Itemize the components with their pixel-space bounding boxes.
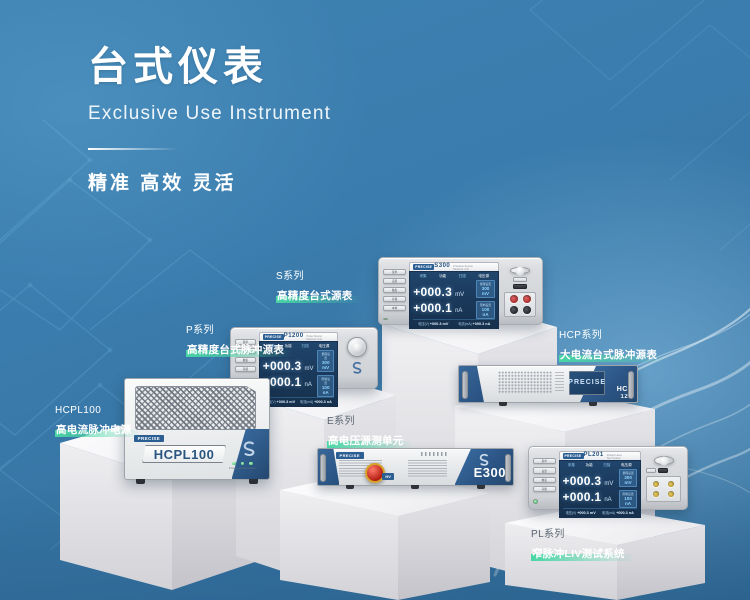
page-subtitle: Exclusive Use Instrument: [88, 103, 331, 125]
limit-setting[interactable]: 限制设置 100 nA: [476, 301, 496, 319]
pl-series-side-buttons[interactable]: 菜单 设置 触发 存储: [533, 451, 556, 504]
led-output: [249, 462, 253, 466]
tab-function[interactable]: 功能: [585, 463, 592, 468]
hcp-display[interactable]: PRECISE: [569, 371, 605, 395]
label-title: E系列: [327, 415, 405, 429]
limit-setting[interactable]: 限制设置 100 nA: [317, 375, 334, 397]
tab-voltage-source[interactable]: 电压源: [478, 274, 489, 279]
button-output[interactable]: [513, 277, 527, 282]
terminal-force-lo[interactable]: [510, 306, 518, 314]
rack-handle-right[interactable]: [505, 454, 511, 482]
range-label: 量程设置: [320, 352, 331, 360]
limit-value: 100 nA: [622, 496, 634, 506]
label-title: PL系列: [531, 528, 626, 542]
mesh-grille: [135, 386, 256, 430]
button-store[interactable]: 存储: [533, 486, 556, 492]
hero-header: 台式仪表 Exclusive Use Instrument 精准 高效 灵活: [88, 44, 331, 195]
label-desc: 高电流脉冲电源: [55, 423, 133, 437]
vent-slots-right: [408, 460, 447, 477]
vent-slots: [555, 372, 564, 392]
rack-feet: [317, 485, 514, 489]
hero-banner: 台式仪表 Exclusive Use Instrument 精准 高效 灵活: [0, 0, 750, 600]
lcd-status-bar: 电压(V) +000.3 mV 电流(mA) +000.3 nA: [563, 508, 638, 515]
button-menu[interactable]: 菜单: [383, 269, 406, 275]
led-power: [232, 462, 236, 466]
circuit-pattern-right: [490, 0, 750, 300]
hv-badge: HV: [382, 473, 394, 480]
label-title: HCP系列: [559, 329, 658, 343]
terminal-laser-out[interactable]: [653, 481, 659, 487]
limit-setting[interactable]: 限制设置 100 nA: [619, 490, 637, 508]
tab-function[interactable]: 功能: [285, 344, 292, 349]
unit-voltage: mV: [604, 481, 613, 487]
status-right-val: +000.3 nA: [616, 511, 634, 515]
terminal-trigger-in[interactable]: [653, 491, 659, 497]
s-series-lcd[interactable]: 采集 功能 扫描 电压源 +000.3 mV +000.1: [409, 271, 499, 329]
lcd-status-bar: 电压(V) +000.3 mV 电流(mA) +000.3 nA: [413, 319, 495, 326]
status-left-val: +000.3 mV: [277, 400, 296, 404]
rotary-knob[interactable]: [347, 337, 367, 357]
terminal-sense-lo[interactable]: [523, 306, 531, 314]
foot: [477, 485, 485, 489]
label-pl-series: PL系列 窄脉冲LIV测试系统: [531, 528, 626, 563]
page-tagline: 精准 高效 灵活: [88, 168, 331, 195]
button-setup[interactable]: 设置: [533, 467, 556, 473]
button-setup[interactable]: 设置: [383, 278, 406, 284]
hcpl100-model-plate: HCPL100: [142, 445, 226, 463]
range-setting[interactable]: 量程设置 300 mV: [619, 469, 637, 487]
usb-port[interactable]: [513, 284, 527, 289]
status-right-val: +000.3 nA: [314, 400, 332, 404]
tab-sweep[interactable]: 扫描: [603, 463, 610, 468]
precise-logo-icon: [349, 360, 365, 376]
rack-handle-left[interactable]: [462, 371, 468, 399]
button-trigger[interactable]: 触发: [533, 477, 556, 483]
hcp-screen-text: PRECISE: [568, 379, 606, 386]
rotary-knob[interactable]: [510, 267, 530, 274]
label-title: HCPL100: [55, 404, 133, 418]
range-value: 300 mV: [479, 286, 493, 296]
foot: [346, 485, 354, 489]
pl-series-brand-bar: PRECISE PL201 Pulsed Laser Test System: [559, 451, 642, 460]
button-menu[interactable]: 菜单: [533, 458, 556, 464]
label-desc: 高精度台式源表: [276, 289, 354, 303]
limit-value: 100 nA: [320, 385, 331, 395]
tab-voltage-source[interactable]: 电压源: [319, 344, 330, 349]
foot: [589, 402, 597, 406]
rack-handle-left[interactable]: [320, 454, 326, 482]
divider: [88, 148, 178, 150]
label-desc: 窄脉冲LIV测试系统: [531, 547, 626, 561]
status-caption: Power Lock Output: [229, 466, 256, 470]
indicator-strip: [421, 452, 448, 456]
model-name: PL201: [584, 452, 604, 458]
range-setting[interactable]: 量程设置 300 mV: [317, 350, 334, 372]
tab-voltage-source[interactable]: 电压源: [621, 463, 632, 468]
brand-logo: PRECISE: [413, 264, 434, 270]
lcd-status-bar: 电压(V) +000.3 mV 电流(mA) +000.3 nA: [263, 397, 335, 404]
terminal-force-hi[interactable]: [510, 295, 518, 303]
page-title: 台式仪表: [88, 44, 331, 91]
limit-value: 100 nA: [479, 307, 493, 317]
unit-voltage: mV: [455, 292, 464, 298]
terminal-monitor[interactable]: [668, 481, 674, 487]
power-led: [383, 318, 388, 320]
status-left-val: +000.3 mV: [577, 511, 596, 515]
range-value: 300 mV: [320, 360, 331, 370]
status-right-key: 电流(mA): [458, 322, 471, 326]
reading-voltage: +000.3: [563, 474, 602, 488]
label-hcpl100: HCPL100 高电流脉冲电源: [55, 404, 133, 439]
power-led: [533, 499, 538, 504]
reading-current: +000.1: [563, 490, 602, 504]
model-name: P1200: [284, 333, 304, 339]
reading-current: +000.1: [413, 301, 452, 315]
precise-logo-icon: [239, 439, 259, 459]
label-e-series: E系列 高电压源测单元: [327, 415, 405, 450]
unit-voltage: mV: [305, 366, 314, 372]
button-store[interactable]: 存储: [235, 366, 256, 372]
label-hcp-series: HCP系列 大电流台式脉冲源表: [559, 329, 658, 364]
rack-feet: [458, 402, 638, 406]
tab-acquire[interactable]: 采集: [568, 463, 575, 468]
label-desc: 高精度台式脉冲源表: [186, 343, 285, 357]
status-left-key: 电压(V): [566, 511, 577, 515]
button-trigger[interactable]: 触发: [383, 287, 406, 293]
usb-port[interactable]: [658, 468, 668, 473]
terminal-sync-out[interactable]: [668, 491, 674, 497]
foot: [136, 479, 145, 484]
label-s-series: S系列 高精度台式源表: [276, 270, 354, 305]
label-desc: 高电压源测单元: [327, 434, 405, 448]
button-store[interactable]: 存储: [383, 296, 406, 302]
instrument-e-series[interactable]: PRECISE HV E300: [317, 448, 514, 486]
status-right-key: 电流(mA): [300, 400, 313, 404]
range-setting[interactable]: 量程设置 300 mV: [476, 280, 496, 298]
terminal-block[interactable]: [504, 292, 536, 317]
s-series-brand-bar: PRECISE S300 Precision Source Measure Un…: [409, 262, 499, 271]
limit-label: 限制设置: [320, 377, 331, 385]
status-right-val: +000.3 nA: [473, 322, 491, 326]
unit-current: nA: [305, 382, 312, 388]
rack-handle-right[interactable]: [628, 371, 634, 399]
led-lock: [241, 462, 245, 466]
status-left-val: +000.3 mV: [430, 322, 449, 326]
label-p-series: P系列 高精度台式脉冲源表: [186, 324, 285, 359]
label-title: P系列: [186, 324, 285, 338]
unit-current: nA: [455, 308, 462, 314]
s-series-side-buttons[interactable]: 菜单 设置 触发 存储 本地: [383, 262, 406, 319]
reading-voltage: +000.3: [263, 359, 302, 373]
brand-logo: PRECISE: [336, 452, 364, 459]
button-output[interactable]: [646, 468, 656, 473]
instrument-hcpl100[interactable]: PRECISE HCPL100 Power Lock Output: [124, 378, 270, 480]
tab-acquire[interactable]: 采集: [419, 274, 426, 279]
instrument-hcp-series[interactable]: PRECISE HCP 120: [458, 365, 638, 403]
tab-sweep[interactable]: 扫描: [459, 274, 466, 279]
label-desc: 大电流台式脉冲源表: [559, 348, 658, 362]
bnc-terminal-block[interactable]: [646, 476, 681, 502]
pedestal-e-series: [280, 470, 490, 600]
terminal-sense-hi[interactable]: [523, 295, 531, 303]
box-feet: [124, 479, 270, 484]
ventilation-grille: [498, 371, 551, 394]
tab-sweep[interactable]: 扫描: [302, 344, 309, 349]
label-title: S系列: [276, 270, 354, 284]
unit-current: nA: [604, 497, 611, 503]
status-left-key: 电压(V): [418, 322, 429, 326]
model-name: S300: [434, 263, 450, 269]
e300-model-label: E300: [474, 465, 506, 480]
instrument-s-series[interactable]: 菜单 设置 触发 存储 本地 PRECISE S300 Precision So…: [378, 257, 543, 325]
status-indicators: Power Lock Output: [229, 462, 256, 471]
status-right-key: 电流(mA): [602, 511, 615, 515]
button-local[interactable]: 本地: [383, 305, 406, 311]
instrument-pl-series[interactable]: 菜单 设置 触发 存储 PRECISE PL201 Pulsed Laser T…: [528, 446, 688, 510]
rotary-knob[interactable]: [654, 456, 674, 465]
foot: [411, 485, 419, 489]
tab-function[interactable]: 功能: [439, 274, 446, 279]
brand-logo: PRECISE: [563, 453, 584, 459]
foot: [249, 479, 258, 484]
range-value: 300 mV: [622, 475, 634, 485]
reading-voltage: +000.3: [413, 285, 452, 299]
pl-series-lcd[interactable]: 采集 功能 扫描 电压源 +000.3 mV +000.1: [559, 460, 642, 518]
foot: [499, 402, 507, 406]
